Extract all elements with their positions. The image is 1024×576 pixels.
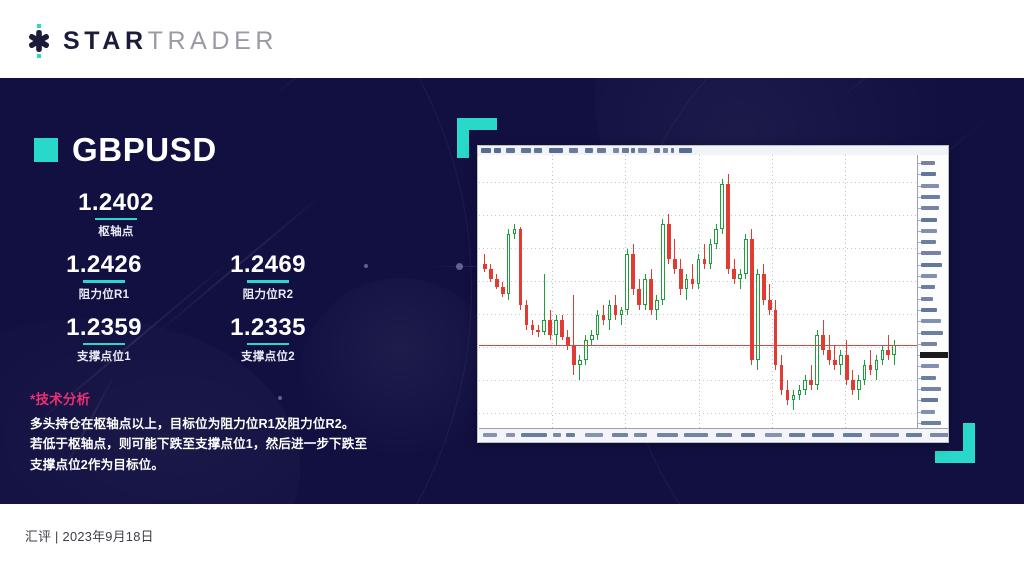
candle-wick	[811, 365, 812, 390]
price-axis-tick	[918, 186, 921, 187]
candle-body	[637, 289, 641, 304]
time-axis-label	[741, 433, 755, 437]
candle-body	[792, 395, 796, 400]
candle-body	[845, 355, 849, 380]
candlestick	[637, 279, 641, 309]
candle-body	[501, 287, 505, 295]
chart-gridline-horizontal	[479, 347, 918, 348]
candlestick	[590, 330, 594, 345]
candlestick	[697, 254, 701, 289]
candlestick	[786, 380, 790, 405]
time-axis-label	[634, 433, 647, 437]
candle-body	[614, 305, 618, 315]
instrument-title: GBPUSD	[34, 133, 217, 166]
chart-gridline-vertical	[552, 155, 553, 429]
candlestick	[685, 274, 689, 299]
accent-rule	[83, 280, 125, 283]
candle-body	[536, 330, 540, 333]
current-price-tag	[920, 352, 948, 358]
candlestick	[809, 365, 813, 390]
candle-body	[827, 350, 831, 360]
level-support-2: 1.2335 支撑点位2	[198, 315, 338, 364]
candle-body	[750, 239, 754, 360]
candlestick	[768, 284, 772, 314]
price-axis-label	[921, 319, 941, 323]
price-axis-tick	[918, 333, 921, 334]
level-pivot: 1.2402 枢轴点	[46, 190, 186, 239]
candle-body	[703, 259, 707, 264]
candlestick	[886, 335, 890, 360]
candle-body	[839, 355, 843, 365]
toolbar-glyph[interactable]	[597, 148, 606, 153]
candle-wick	[740, 269, 741, 289]
support-row: 1.2359 支撑点位1 1.2335 支撑点位2	[34, 315, 364, 364]
candlestick	[738, 269, 742, 289]
price-axis-tick	[918, 378, 921, 379]
candlestick	[661, 219, 665, 304]
candlestick	[732, 259, 736, 284]
candle-body	[780, 365, 784, 390]
price-axis-tick	[918, 174, 921, 175]
candle-body	[892, 345, 896, 355]
slide-root: STARTRADER	[0, 0, 1024, 576]
price-axis-label	[921, 297, 933, 301]
toolbar-glyph[interactable]	[654, 148, 660, 153]
candle-body	[560, 320, 564, 338]
candlestick	[625, 249, 629, 314]
candlestick	[649, 269, 653, 314]
candlestick	[614, 295, 618, 320]
candle-body	[519, 229, 523, 304]
candlestick	[542, 274, 546, 334]
candlestick	[655, 295, 659, 320]
candle-wick	[870, 350, 871, 375]
time-axis-label	[812, 433, 834, 437]
price-axis-tick	[918, 253, 921, 254]
candlestick	[548, 310, 552, 340]
price-axis-tick	[918, 231, 921, 232]
square-marker-icon	[34, 138, 58, 162]
candle-body	[566, 337, 570, 345]
price-axis-tick	[918, 208, 921, 209]
time-axis-label	[521, 433, 547, 437]
candlestick	[726, 174, 730, 275]
toolbar-glyph[interactable]	[506, 148, 515, 153]
candlestick	[863, 360, 867, 385]
candlestick	[756, 269, 760, 370]
price-axis-label	[921, 387, 941, 391]
price-axis-label	[921, 364, 939, 368]
chart-time-axis	[479, 428, 948, 442]
candlestick	[525, 300, 529, 330]
candlestick	[857, 375, 861, 400]
candlestick	[792, 390, 796, 410]
price-axis-tick	[918, 366, 921, 367]
time-axis-label	[553, 433, 561, 437]
price-axis-label	[921, 161, 935, 165]
price-axis-label	[921, 285, 935, 289]
time-axis-label	[684, 433, 708, 437]
toolbar-glyph[interactable]	[663, 148, 668, 153]
resistance-2-value: 1.2469	[198, 252, 338, 278]
pivot-value: 1.2402	[46, 190, 186, 216]
toolbar-glyph[interactable]	[569, 148, 578, 153]
candlestick	[845, 340, 849, 385]
time-axis-label	[506, 433, 515, 437]
support-2-value: 1.2335	[198, 315, 338, 341]
analysis-line-3: 支撑点位2作为目标位。	[30, 455, 400, 475]
candlestick	[803, 375, 807, 395]
candlestick	[483, 254, 487, 272]
candlestick	[892, 340, 896, 365]
candle-body	[762, 274, 766, 299]
candle-body	[608, 305, 612, 320]
resistance-1-label: 阻力位R1	[34, 286, 174, 302]
price-axis-label	[921, 206, 939, 210]
candlestick	[643, 274, 647, 309]
price-axis-tick	[918, 321, 921, 322]
accent-rule	[83, 343, 125, 346]
candle-wick	[888, 335, 889, 360]
toolbar-glyph[interactable]	[671, 148, 674, 153]
chart-price-axis	[917, 155, 948, 429]
chart-gridline-horizontal	[479, 215, 918, 216]
candlestick	[489, 264, 493, 282]
page-title: GBPUSD	[72, 133, 217, 166]
chart-gridline-vertical	[845, 155, 846, 429]
analysis-line-1: 多头持仓在枢轴点以上，目标位为阻力位R1及阻力位R2。	[30, 414, 400, 434]
candlestick	[815, 330, 819, 390]
candle-body	[590, 335, 594, 340]
price-axis-tick	[918, 299, 921, 300]
accent-rule	[95, 218, 137, 221]
accent-rule	[247, 343, 289, 346]
candle-body	[483, 264, 487, 269]
candlestick	[875, 355, 879, 380]
level-resistance-2: 1.2469 阻力位R2	[198, 252, 338, 301]
candlestick	[513, 224, 517, 239]
candlestick	[691, 264, 695, 289]
candlestick	[531, 320, 535, 335]
analysis-heading: *技术分析	[30, 388, 400, 408]
support-1-value: 1.2359	[34, 315, 174, 341]
time-axis-label	[930, 433, 948, 437]
brand-name-light: TRADER	[148, 27, 278, 55]
candle-body	[596, 315, 600, 335]
price-axis-tick	[918, 287, 921, 288]
candlestick	[744, 234, 748, 279]
candle-body	[631, 254, 635, 289]
price-axis-tick	[918, 265, 921, 266]
star-asterisk-icon	[22, 24, 56, 58]
price-axis-tick	[918, 400, 921, 401]
toolbar-glyph[interactable]	[534, 148, 542, 153]
toolbar-glyph[interactable]	[481, 148, 491, 153]
candle-body	[548, 320, 552, 335]
toolbar-glyph[interactable]	[494, 148, 501, 153]
pivot-label: 枢轴点	[46, 223, 186, 239]
price-axis-label	[921, 342, 937, 346]
candle-body	[685, 279, 689, 289]
candlestick	[839, 350, 843, 375]
candle-body	[643, 279, 647, 304]
price-axis-label	[921, 229, 937, 233]
price-axis-tick	[918, 412, 921, 413]
candlestick	[572, 295, 576, 375]
candlestick	[703, 244, 707, 269]
candlestick	[608, 300, 612, 330]
candle-body	[863, 365, 867, 380]
price-axis-tick	[918, 197, 921, 198]
candle-body	[821, 335, 825, 350]
toolbar-glyph[interactable]	[585, 148, 593, 153]
time-axis-label	[483, 433, 497, 437]
candlestick	[762, 264, 766, 304]
level-support-1: 1.2359 支撑点位1	[34, 315, 174, 364]
candlestick	[620, 307, 624, 325]
candle-body	[881, 350, 885, 360]
candle-body	[886, 350, 890, 355]
candle-body	[815, 335, 819, 385]
chart-plot-area[interactable]	[479, 155, 918, 429]
candlestick	[673, 239, 677, 274]
candle-body	[625, 254, 629, 309]
time-axis-label	[765, 433, 782, 437]
candle-body	[714, 229, 718, 244]
resistance-1-value: 1.2426	[34, 252, 174, 278]
price-axis-label	[921, 240, 936, 244]
candlestick	[709, 239, 713, 269]
candlestick	[833, 345, 837, 370]
candlestick	[720, 179, 724, 234]
candlestick	[667, 214, 671, 264]
price-axis-label	[921, 398, 938, 402]
toolbar-glyph[interactable]	[622, 148, 629, 153]
candle-body	[744, 239, 748, 274]
candle-body	[661, 224, 665, 299]
level-resistance-1: 1.2426 阻力位R1	[34, 252, 174, 301]
support-2-label: 支撑点位2	[198, 348, 338, 364]
candlestick	[774, 300, 778, 370]
candle-body	[673, 259, 677, 269]
candle-body	[584, 340, 588, 360]
accent-rule	[247, 280, 289, 283]
price-axis-label	[921, 251, 941, 255]
price-axis-label	[921, 218, 937, 222]
candle-body	[620, 310, 624, 315]
price-axis-label	[921, 195, 940, 199]
support-1-label: 支撑点位1	[34, 348, 174, 364]
brand-name-bold: STAR	[63, 27, 148, 55]
price-axis-tick	[918, 389, 921, 390]
candle-body	[602, 315, 606, 320]
price-axis-label	[921, 172, 936, 176]
candlestick	[798, 385, 802, 400]
candlestick	[881, 345, 885, 365]
candle-body	[768, 300, 772, 310]
candle-body	[798, 390, 802, 395]
chart-gridline-vertical	[699, 155, 700, 429]
toolbar-glyph[interactable]	[638, 148, 647, 153]
price-chart[interactable]	[477, 145, 949, 443]
candlestick	[566, 330, 570, 350]
candlestick	[631, 244, 635, 294]
candlestick	[827, 335, 831, 365]
current-price-line	[479, 345, 918, 346]
time-axis-label	[716, 433, 732, 437]
candle-body	[525, 305, 529, 325]
candlestick	[536, 325, 540, 338]
candle-body	[542, 320, 546, 333]
candle-wick	[579, 355, 580, 380]
footer-caption: 汇评 | 2023年9月18日	[25, 526, 154, 545]
time-axis-label	[789, 433, 805, 437]
chart-gridline-horizontal	[479, 182, 918, 183]
candlestick	[869, 350, 873, 375]
candlestick	[501, 282, 505, 297]
time-axis-label	[612, 433, 628, 437]
candlestick	[519, 227, 523, 310]
chart-gridline-horizontal	[479, 413, 918, 414]
candle-body	[738, 274, 742, 279]
candlestick	[596, 310, 600, 340]
price-axis-label	[921, 421, 941, 425]
candle-body	[679, 269, 683, 289]
candle-body	[726, 184, 730, 269]
price-axis-label	[921, 274, 937, 278]
price-axis-label	[921, 410, 935, 414]
toolbar-glyph[interactable]	[679, 148, 692, 153]
price-axis-tick	[918, 163, 921, 164]
levels-block: 1.2402 枢轴点 1.2426 阻力位R1 1.2469 阻力位R2 1.2…	[34, 190, 364, 364]
price-axis-tick	[918, 242, 921, 243]
header-bar: STARTRADER	[0, 0, 1024, 78]
price-axis-label	[921, 331, 943, 335]
time-axis-label	[657, 433, 678, 437]
candle-body	[869, 365, 873, 370]
toolbar-glyph[interactable]	[631, 148, 635, 153]
candlestick	[495, 274, 499, 289]
candlestick	[560, 315, 564, 340]
time-axis-label	[843, 433, 862, 437]
candle-body	[667, 224, 671, 259]
candlestick	[554, 315, 558, 345]
price-axis-label	[921, 376, 936, 380]
candlestick	[821, 320, 825, 355]
candle-body	[875, 360, 879, 370]
candle-body	[720, 184, 724, 229]
candle-body	[691, 279, 695, 284]
price-axis-tick	[918, 276, 921, 277]
time-axis-label	[906, 433, 922, 437]
candle-body	[513, 229, 517, 234]
candle-body	[507, 234, 511, 294]
candle-body	[803, 380, 807, 390]
price-axis-label	[921, 263, 942, 267]
chart-gridline-vertical	[772, 155, 773, 429]
brand-logo: STARTRADER	[22, 26, 278, 56]
price-axis-tick	[918, 310, 921, 311]
time-axis-label	[566, 433, 575, 437]
price-axis-label	[921, 308, 937, 312]
candle-body	[732, 269, 736, 279]
toolbar-glyph[interactable]	[549, 148, 563, 153]
candle-body	[655, 300, 659, 310]
candlestick	[578, 355, 582, 380]
candle-wick	[793, 390, 794, 410]
candle-body	[756, 274, 760, 359]
candlestick	[584, 335, 588, 365]
resistance-row: 1.2426 阻力位R1 1.2469 阻力位R2	[34, 252, 364, 301]
toolbar-glyph[interactable]	[613, 148, 619, 153]
candle-wick	[692, 264, 693, 289]
price-axis-tick	[918, 344, 921, 345]
candle-body	[709, 244, 713, 264]
price-axis-tick	[918, 423, 921, 424]
chart-gridline-horizontal	[479, 248, 918, 249]
candlestick	[780, 355, 784, 395]
candlestick	[507, 229, 511, 299]
candle-body	[851, 380, 855, 390]
time-axis-label	[585, 433, 603, 437]
candle-wick	[834, 345, 835, 370]
candle-body	[697, 259, 701, 284]
candle-body	[554, 320, 558, 335]
toolbar-glyph[interactable]	[521, 148, 531, 153]
candle-body	[833, 360, 837, 365]
candle-body	[649, 279, 653, 309]
time-axis-label	[870, 433, 899, 437]
candle-body	[578, 360, 582, 365]
technical-analysis: *技术分析 多头持仓在枢轴点以上，目标位为阻力位R1及阻力位R2。 若低于枢轴点…	[30, 388, 400, 475]
candle-body	[531, 325, 535, 330]
candle-body	[489, 269, 493, 279]
candle-body	[857, 380, 861, 390]
candlestick	[851, 370, 855, 395]
candle-body	[786, 390, 790, 400]
candle-body	[572, 345, 576, 365]
analysis-line-2: 若低于枢轴点，则可能下跌至支撑点位1，然后进一步下跌至	[30, 434, 400, 454]
candle-wick	[704, 244, 705, 269]
candlestick	[679, 259, 683, 294]
candlestick	[602, 305, 606, 325]
candle-body	[809, 380, 813, 385]
candle-body	[774, 310, 778, 365]
price-axis-label	[921, 184, 939, 188]
price-axis-tick	[918, 220, 921, 221]
resistance-2-label: 阻力位R2	[198, 286, 338, 302]
candle-body	[495, 279, 499, 287]
candlestick	[714, 224, 718, 249]
